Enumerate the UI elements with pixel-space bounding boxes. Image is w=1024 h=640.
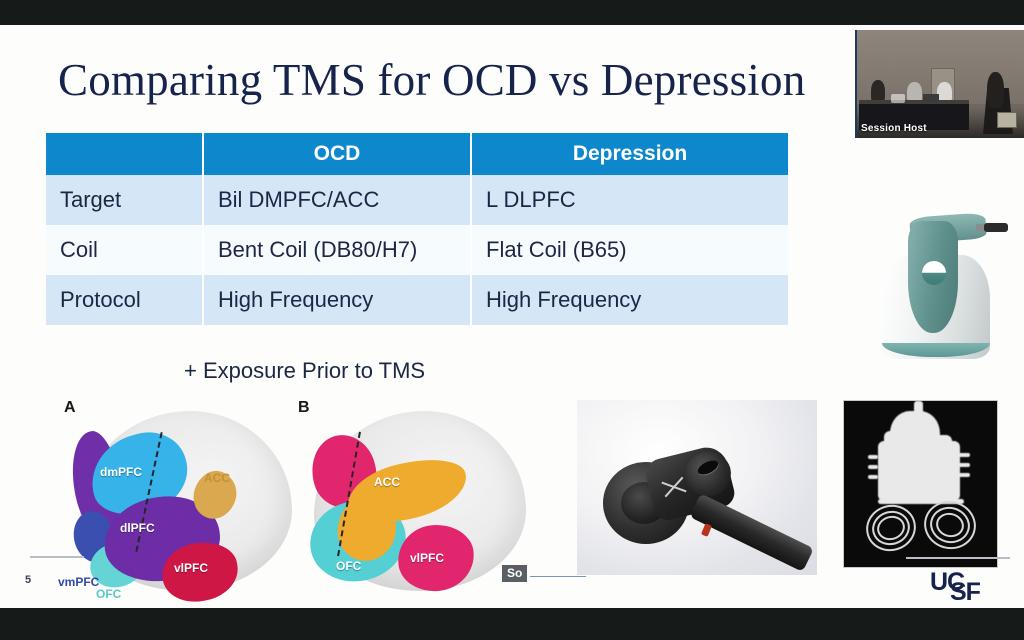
cell-coil-depression: Flat Coil (B65)	[472, 225, 788, 275]
xray-cable-top	[914, 401, 923, 417]
row-label-coil: Coil	[46, 225, 204, 275]
row-label-protocol: Protocol	[46, 275, 204, 325]
region-label-ofc: OFC	[96, 587, 121, 601]
region-label-acc: ACC	[204, 471, 230, 485]
table-header-depression: Depression	[472, 133, 788, 175]
letterbox-bottom	[0, 608, 1024, 640]
coil-indicator	[701, 523, 712, 537]
divider-right	[906, 557, 1010, 559]
region-label-dlpfc: dlPFC	[120, 521, 155, 535]
region-label-acc: ACC	[374, 475, 400, 489]
table-row: Coil Bent Coil (DB80/H7) Flat Coil (B65)	[46, 225, 788, 275]
video-speaker-standing	[987, 72, 1004, 108]
xray-pin-right-1	[958, 453, 970, 457]
xray-pin-left-3	[868, 475, 878, 479]
h-coil-xray-photo	[843, 400, 998, 568]
region-label-vlpfc: vlPFC	[410, 551, 444, 565]
tms-stimulator-photo	[858, 203, 1018, 371]
region-label-dmpfc: dmPFC	[100, 465, 142, 479]
cell-target-depression: L DLPFC	[472, 175, 788, 225]
cell-protocol-ocd: High Frequency	[204, 275, 472, 325]
video-signage	[997, 112, 1017, 128]
panel-letter-b: B	[298, 399, 310, 417]
ucsf-logo: UC SF	[930, 570, 1006, 610]
table-header-ocd: OCD	[204, 133, 472, 175]
page-number: 5	[25, 574, 31, 586]
region-label-ofc: OFC	[336, 559, 361, 573]
xray-pin-left-1	[868, 455, 878, 459]
table-header-row: OCD Depression	[46, 133, 788, 175]
letterbox-top	[0, 0, 1024, 25]
cell-protocol-depression: High Frequency	[472, 275, 788, 325]
video-laptop	[923, 94, 939, 102]
xray-pin-left-2	[868, 465, 878, 469]
cell-coil-ocd: Bent Coil (DB80/H7)	[204, 225, 472, 275]
comparison-table: OCD Depression Target Bil DMPFC/ACC L DL…	[46, 133, 788, 325]
source-line	[530, 576, 586, 577]
brain-figure-panel-a: A dmPFC dlPFC vlPFC ACC vmPFC OFC	[52, 393, 302, 608]
xray-pin-right-2	[958, 463, 970, 467]
presentation-screen: Comparing TMS for OCD vs Depression OCD …	[0, 0, 1024, 640]
speaker-video-tile[interactable]: Session Host	[855, 30, 1024, 138]
table-header-blank	[46, 133, 204, 175]
source-badge: So	[502, 565, 527, 582]
region-label-vmpfc: vmPFC	[58, 575, 99, 589]
xray-pin-right-3	[958, 473, 970, 477]
cell-target-ocd: Bil DMPFC/ACC	[204, 175, 472, 225]
device-connector	[984, 223, 1008, 232]
ucsf-logo-sf: SF	[950, 580, 980, 605]
row-label-target: Target	[46, 175, 204, 225]
brain-figure-panel-b: B ACC vlPFC OFC	[286, 393, 536, 608]
xray-core-c	[934, 435, 952, 463]
xray-core-b	[910, 427, 926, 461]
xray-core-a	[884, 431, 902, 457]
video-water-pitcher	[891, 94, 905, 103]
region-label-vlpfc: vlPFC	[174, 561, 208, 575]
table-row: Target Bil DMPFC/ACC L DLPFC	[46, 175, 788, 225]
page-title: Comparing TMS for OCD vs Depression	[58, 58, 805, 103]
device-logo	[922, 261, 946, 285]
table-row: Protocol High Frequency High Frequency	[46, 275, 788, 325]
divider-left	[30, 556, 84, 558]
bent-coil-photo	[577, 400, 817, 575]
video-host-label: Session Host	[861, 123, 927, 134]
exposure-note: + Exposure Prior to TMS	[184, 358, 425, 384]
panel-letter-a: A	[64, 399, 76, 417]
